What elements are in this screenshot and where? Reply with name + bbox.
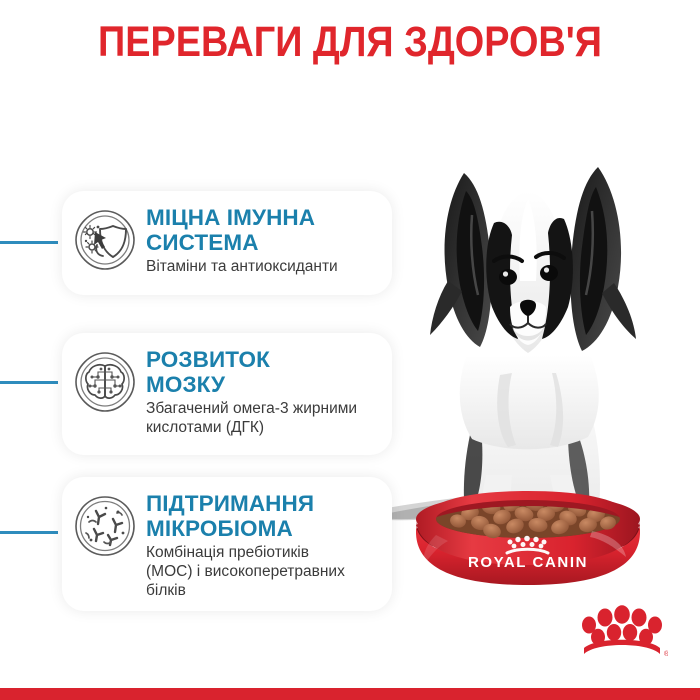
benefit-text-immunity: МІЦНА ІМУННА СИСТЕМА Вітаміни та антиокс… — [146, 203, 386, 276]
microbiome-icon — [72, 493, 138, 559]
connector-line-3 — [0, 531, 58, 534]
dog-photo: ROYAL CANIN — [360, 95, 700, 615]
registered-mark: ® — [664, 650, 668, 658]
benefit-text-brain: РОЗВИТОК МОЗКУ Збагачений омега-3 жирним… — [146, 345, 386, 437]
benefit-subtitle-immunity: Вітаміни та антиоксиданти — [146, 257, 386, 276]
benefit-card-brain: РОЗВИТОК МОЗКУ Збагачений омега-3 жирним… — [62, 333, 392, 455]
svg-text:ROYAL CANIN: ROYAL CANIN — [468, 554, 588, 571]
benefit-title-microbiome: ПІДТРИМАННЯ МІКРОБІОМА — [146, 491, 386, 541]
brain-icon — [72, 349, 138, 415]
benefit-subtitle-microbiome: Комбінація пребіотиків (МОС) і високопер… — [146, 543, 386, 600]
benefit-subtitle-brain: Збагачений омега-3 жирними кислотами (ДГ… — [146, 399, 386, 437]
benefit-title-immunity: МІЦНА ІМУННА СИСТЕМА — [146, 205, 386, 255]
benefit-card-microbiome: ПІДТРИМАННЯ МІКРОБІОМА Комбінація пребіо… — [62, 477, 392, 611]
benefit-text-microbiome: ПІДТРИМАННЯ МІКРОБІОМА Комбінація пребіо… — [146, 489, 386, 600]
royal-canin-crown-logo: ® — [576, 604, 668, 662]
benefit-title-brain: РОЗВИТОК МОЗКУ — [146, 347, 386, 397]
page-title: ПЕРЕВАГИ ДЛЯ ЗДОРОВ'Я — [42, 16, 658, 68]
connector-line-1 — [0, 241, 58, 244]
benefit-card-immunity: МІЦНА ІМУННА СИСТЕМА Вітаміни та антиокс… — [62, 191, 392, 295]
bottom-red-bar — [0, 688, 700, 700]
connector-line-2 — [0, 381, 58, 384]
shield-immunity-icon — [72, 207, 138, 273]
promo-page: ПЕРЕВАГИ ДЛЯ ЗДОРОВ'Я — [0, 0, 700, 700]
